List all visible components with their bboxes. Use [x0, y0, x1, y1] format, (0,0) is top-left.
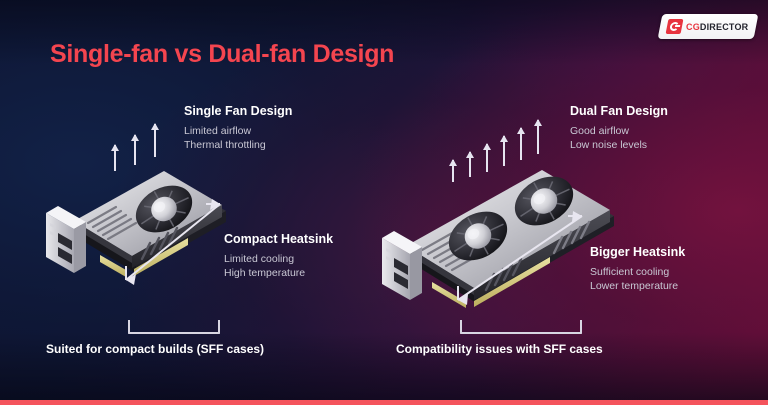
bigger-heatsink-dimension-line [452, 208, 592, 306]
bigger-heatsink-heading: Bigger Heatsink [590, 245, 685, 259]
cg-g-mark-icon [666, 19, 684, 34]
dual-fan-design-block: Dual Fan Design Good airflow Low noise l… [570, 104, 668, 152]
logo-wordmark-suffix: DIRECTOR [700, 22, 748, 32]
airflow-arrow [134, 135, 136, 165]
bottom-accent-bar [0, 400, 768, 405]
dual-fan-width-bracket [460, 320, 582, 334]
page-title: Single-fan vs Dual-fan Design [50, 40, 394, 69]
single-fan-design-line-2: Thermal throttling [184, 138, 292, 152]
airflow-arrow [469, 152, 471, 177]
compact-heatsink-heading: Compact Heatsink [224, 232, 333, 246]
airflow-arrow [486, 144, 488, 172]
infographic-canvas: CGDIRECTOR Single-fan vs Dual-fan Design [0, 0, 768, 405]
single-fan-design-heading: Single Fan Design [184, 104, 292, 118]
single-fan-width-bracket [128, 320, 220, 334]
single-fan-design-block: Single Fan Design Limited airflow Therma… [184, 104, 292, 152]
logo-wordmark: CGDIRECTOR [686, 22, 748, 32]
airflow-arrow [452, 160, 454, 182]
dual-fan-design-heading: Dual Fan Design [570, 104, 668, 118]
compact-heatsink-dimension-line [120, 196, 230, 286]
cgdirector-logo[interactable]: CGDIRECTOR [658, 14, 759, 39]
single-fan-design-line-1: Limited airflow [184, 124, 292, 138]
bigger-heatsink-line-1: Sufficient cooling [590, 265, 685, 279]
airflow-arrow [114, 145, 116, 171]
bigger-heatsink-block: Bigger Heatsink Sufficient cooling Lower… [590, 245, 685, 293]
airflow-arrow [154, 124, 156, 157]
airflow-arrow [503, 136, 505, 166]
single-fan-caption: Suited for compact builds (SFF cases) [46, 342, 264, 356]
airflow-arrow [520, 128, 522, 160]
dual-fan-caption: Compatibility issues with SFF cases [396, 342, 603, 356]
dual-fan-design-line-1: Good airflow [570, 124, 668, 138]
logo-wordmark-prefix: CG [686, 22, 700, 32]
bigger-heatsink-line-2: Lower temperature [590, 279, 685, 293]
dual-fan-design-line-2: Low noise levels [570, 138, 668, 152]
compact-heatsink-line-1: Limited cooling [224, 252, 333, 266]
compact-heatsink-block: Compact Heatsink Limited cooling High te… [224, 232, 333, 280]
compact-heatsink-line-2: High temperature [224, 266, 333, 280]
airflow-arrow [537, 120, 539, 154]
